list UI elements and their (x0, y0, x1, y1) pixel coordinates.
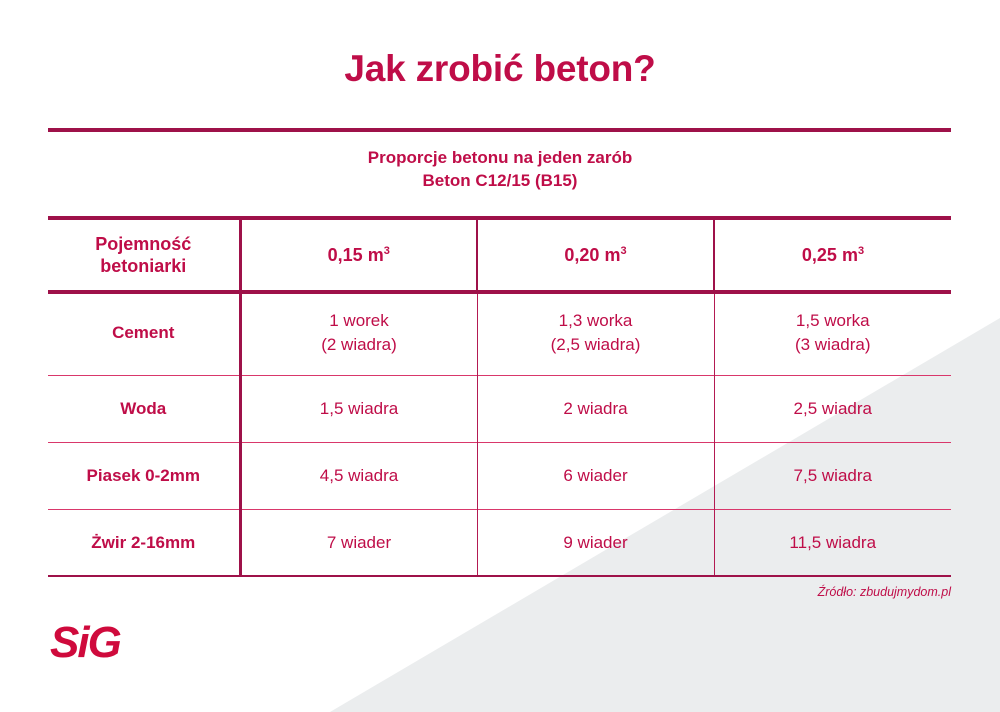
cell-cement-020-line-2: (2,5 wiadra) (478, 333, 714, 357)
cell-sand-015: 4,5 wiadra (240, 443, 477, 510)
header-capacity-line-1: Pojemność (48, 233, 239, 255)
header-volume-3-value: 0,25 m (802, 245, 858, 265)
header-volume-2-value: 0,20 m (564, 245, 620, 265)
subtitle-line-1: Proporcje betonu na jeden zarób (0, 146, 1000, 169)
cell-gravel-020: 9 wiader (477, 510, 714, 577)
table-row-cement: Cement 1 worek (2 wiadra) 1,3 worka (2,5… (48, 290, 951, 376)
cell-gravel-015: 7 wiader (240, 510, 477, 577)
cell-sand-020: 6 wiader (477, 443, 714, 510)
cell-cement-015-line-1: 1 worek (242, 309, 477, 333)
cell-water-015: 1,5 wiadra (240, 376, 477, 443)
header-volume-1-exponent: 3 (384, 245, 390, 257)
cell-cement-025-line-1: 1,5 worka (715, 309, 952, 333)
header-volume-1-value: 0,15 m (328, 245, 384, 265)
cell-gravel-025: 11,5 wiadra (714, 510, 951, 577)
row-label-water: Woda (48, 376, 240, 443)
header-cell-volume-2: 0,20 m3 (477, 220, 714, 290)
header-volume-3-exponent: 3 (858, 245, 864, 257)
cell-cement-015: 1 worek (2 wiadra) (240, 290, 477, 376)
table-row-water: Woda 1,5 wiadra 2 wiadra 2,5 wiadra (48, 376, 951, 443)
row-label-gravel: Żwir 2-16mm (48, 510, 240, 577)
infographic-page: Jak zrobić beton? Proporcje betonu na je… (0, 0, 1000, 712)
row-label-sand: Piasek 0-2mm (48, 443, 240, 510)
page-title: Jak zrobić beton? (0, 48, 1000, 90)
rule-header-bottom (48, 290, 951, 294)
header-cell-capacity: Pojemność betoniarki (48, 220, 240, 290)
rule-top-divider (48, 128, 951, 132)
cell-cement-025: 1,5 worka (3 wiadra) (714, 290, 951, 376)
table-row-gravel: Żwir 2-16mm 7 wiader 9 wiader 11,5 wiadr… (48, 510, 951, 577)
cell-cement-025-line-2: (3 wiadra) (715, 333, 952, 357)
cell-water-025: 2,5 wiadra (714, 376, 951, 443)
header-cell-volume-3: 0,25 m3 (714, 220, 951, 290)
sig-logo-text: SiG (50, 618, 160, 668)
source-attribution: Źródło: zbudujmydom.pl (818, 585, 951, 599)
table-row-sand: Piasek 0-2mm 4,5 wiadra 6 wiader 7,5 wia… (48, 443, 951, 510)
cell-water-020: 2 wiadra (477, 376, 714, 443)
table-header-row: Pojemność betoniarki 0,15 m3 0,20 m3 0,2… (48, 220, 951, 290)
cell-cement-020: 1,3 worka (2,5 wiadra) (477, 290, 714, 376)
cell-cement-015-line-2: (2 wiadra) (242, 333, 477, 357)
header-cell-volume-1: 0,15 m3 (240, 220, 477, 290)
cell-cement-020-line-1: 1,3 worka (478, 309, 714, 333)
subtitle-line-2: Beton C12/15 (B15) (0, 169, 1000, 192)
row-label-cement: Cement (48, 290, 240, 376)
cell-sand-025: 7,5 wiadra (714, 443, 951, 510)
header-volume-2-exponent: 3 (620, 245, 626, 257)
table-subtitle: Proporcje betonu na jeden zarób Beton C1… (0, 146, 1000, 192)
sig-logo: SiG (50, 618, 160, 668)
header-capacity-line-2: betoniarki (48, 255, 239, 277)
rule-table-bottom (48, 575, 951, 577)
concrete-proportions-table: Pojemność betoniarki 0,15 m3 0,20 m3 0,2… (48, 220, 951, 576)
